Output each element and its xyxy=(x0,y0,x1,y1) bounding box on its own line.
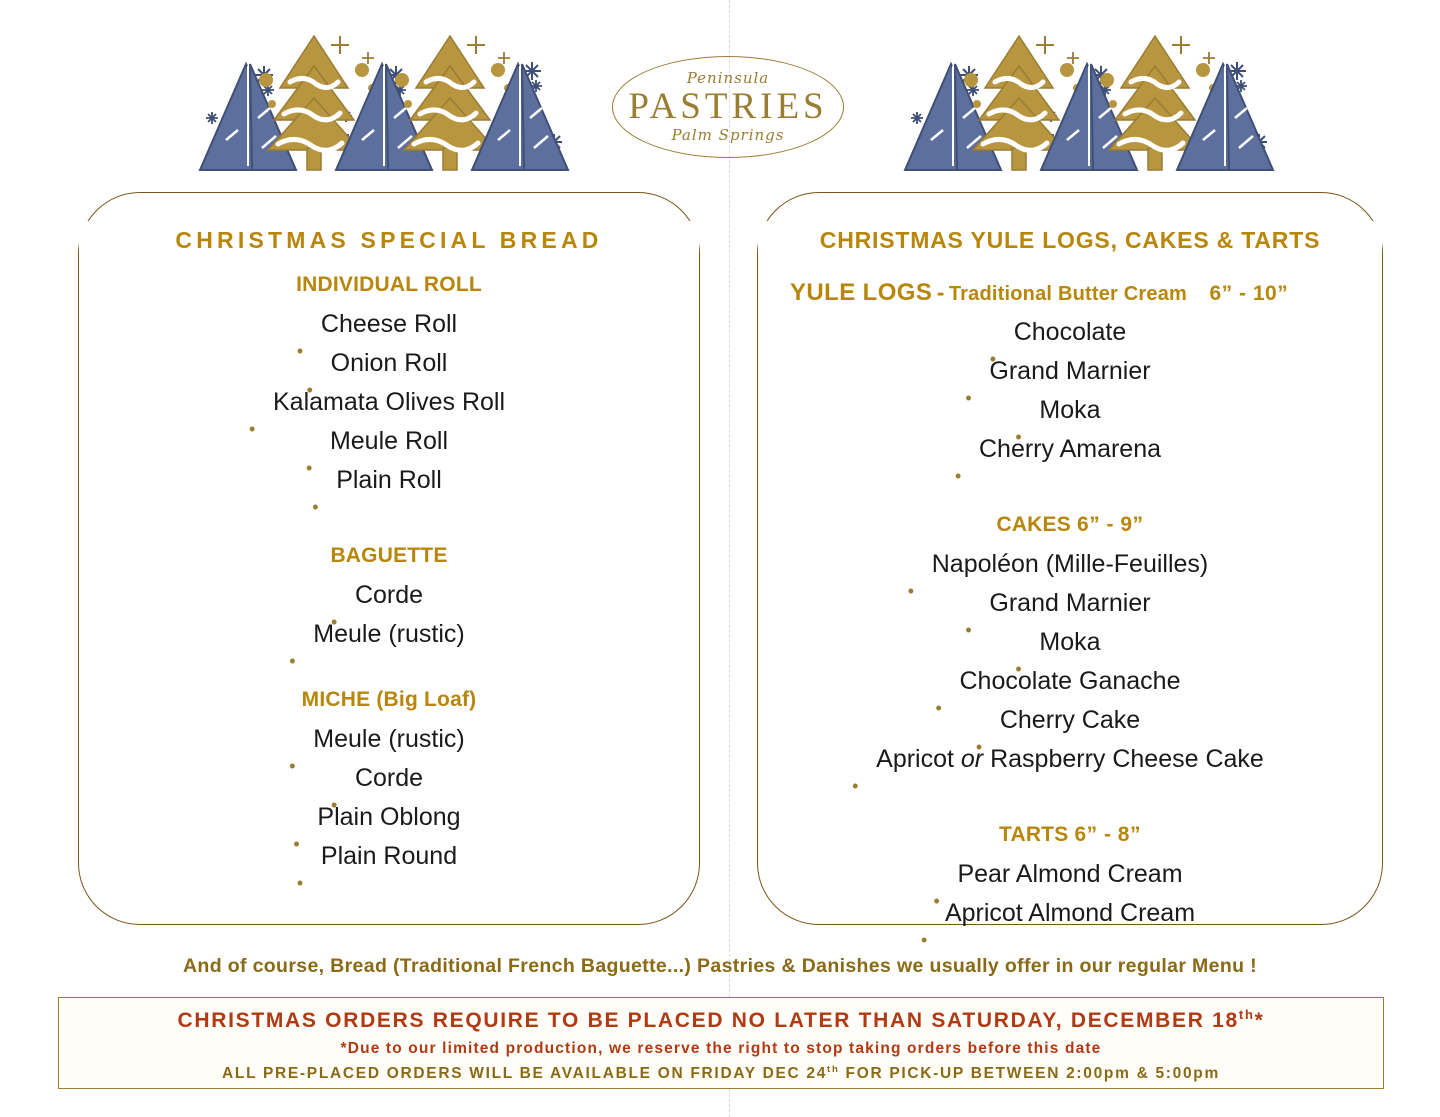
list-item: Chocolate xyxy=(776,313,1364,352)
list-item: Meule (rustic) xyxy=(97,720,681,759)
section-heading-individual-roll: INDIVIDUAL ROLL xyxy=(97,273,681,297)
snowflake-icon xyxy=(206,112,218,124)
list-item: Apricot or Raspberry Cheese Cake xyxy=(776,740,1364,779)
logo-script-top: Peninsula xyxy=(687,71,770,86)
list-item: Cherry Amarena xyxy=(776,430,1364,469)
list-item: Cherry Cake xyxy=(776,701,1364,740)
left-card-title: CHRISTMAS SPECIAL BREAD xyxy=(79,221,699,260)
tarts-label: TARTS xyxy=(999,823,1068,846)
notice-headline: CHRISTMAS ORDERS REQUIRE TO BE PLACED NO… xyxy=(59,1007,1383,1033)
christmas-trees-right xyxy=(896,22,1286,172)
list-item: Kalamata Olives Roll xyxy=(97,383,681,422)
list-item: Plain Roll xyxy=(97,461,681,500)
order-deadline-notice: CHRISTMAS ORDERS REQUIRE TO BE PLACED NO… xyxy=(58,997,1384,1089)
yule-logs-label: YULE LOGS xyxy=(790,279,932,306)
snowflake-icon xyxy=(911,112,923,124)
yule-logs-cakes-tarts-card: CHRISTMAS YULE LOGS, CAKES & TARTS YULE … xyxy=(757,192,1383,925)
list-item: Corde xyxy=(97,759,681,798)
list-item: Cheese Roll xyxy=(97,305,681,344)
cakes-list: Napoléon (Mille-Feuilles) Grand Marnier … xyxy=(776,545,1364,779)
christmas-trees-left xyxy=(196,22,576,172)
logo-wordmark: PASTRIES xyxy=(628,88,827,125)
notice-disclaimer: *Due to our limited production, we reser… xyxy=(59,1040,1383,1058)
list-item: Plain Oblong xyxy=(97,798,681,837)
yule-logs-heading-row: YULE LOGS - Traditional Butter Cream 6” … xyxy=(776,279,1364,307)
yule-logs-description: Traditional Butter Cream xyxy=(949,283,1187,305)
tarts-list: Pear Almond Cream Apricot Almond Cream xyxy=(776,855,1364,933)
section-heading-cakes: CAKES 6” - 9” xyxy=(776,513,1364,537)
tarts-sizes: 6” - 8” xyxy=(1074,823,1141,846)
yule-logs-list: Chocolate Grand Marnier Moka Cherry Amar… xyxy=(776,313,1364,469)
yule-logs-dash: - xyxy=(937,279,945,305)
miche-list: Meule (rustic) Corde Plain Oblong Plain … xyxy=(97,720,681,876)
christmas-bread-card: CHRISTMAS SPECIAL BREAD INDIVIDUAL ROLL … xyxy=(78,192,700,925)
right-card-title: CHRISTMAS YULE LOGS, CAKES & TARTS xyxy=(758,221,1382,260)
list-item: Pear Almond Cream xyxy=(776,855,1364,894)
individual-roll-list: Cheese Roll Onion Roll Kalamata Olives R… xyxy=(97,305,681,500)
list-item: Apricot Almond Cream xyxy=(776,894,1364,933)
list-item: Moka xyxy=(776,391,1364,430)
list-item: Onion Roll xyxy=(97,344,681,383)
section-heading-miche: MICHE (Big Loaf) xyxy=(97,688,681,712)
list-item: Chocolate Ganache xyxy=(776,662,1364,701)
logo-script-bottom: Palm Springs xyxy=(672,128,785,143)
yule-logs-sizes: 6” - 10” xyxy=(1210,282,1289,305)
baguette-list: Corde Meule (rustic) xyxy=(97,576,681,654)
notice-pickup-info: ALL PRE-PLACED ORDERS WILL BE AVAILABLE … xyxy=(59,1064,1383,1083)
section-heading-tarts: TARTS 6” - 8” xyxy=(776,823,1364,847)
list-item: Plain Round xyxy=(97,837,681,876)
list-item: Meule (rustic) xyxy=(97,615,681,654)
section-heading-baguette: BAGUETTE xyxy=(97,544,681,568)
list-item: Moka xyxy=(776,623,1364,662)
cakes-sizes: 6” - 9” xyxy=(1077,513,1144,536)
list-item: Napoléon (Mille-Feuilles) xyxy=(776,545,1364,584)
brand-logo: Peninsula PASTRIES Palm Springs xyxy=(612,56,844,158)
cakes-label: CAKES xyxy=(996,513,1071,536)
list-item: Meule Roll xyxy=(97,422,681,461)
list-item: Grand Marnier xyxy=(776,352,1364,391)
list-item: Corde xyxy=(97,576,681,615)
regular-menu-note: And of course, Bread (Traditional French… xyxy=(0,955,1440,978)
list-item: Grand Marnier xyxy=(776,584,1364,623)
header-band: Peninsula PASTRIES Palm Springs xyxy=(0,0,1440,185)
